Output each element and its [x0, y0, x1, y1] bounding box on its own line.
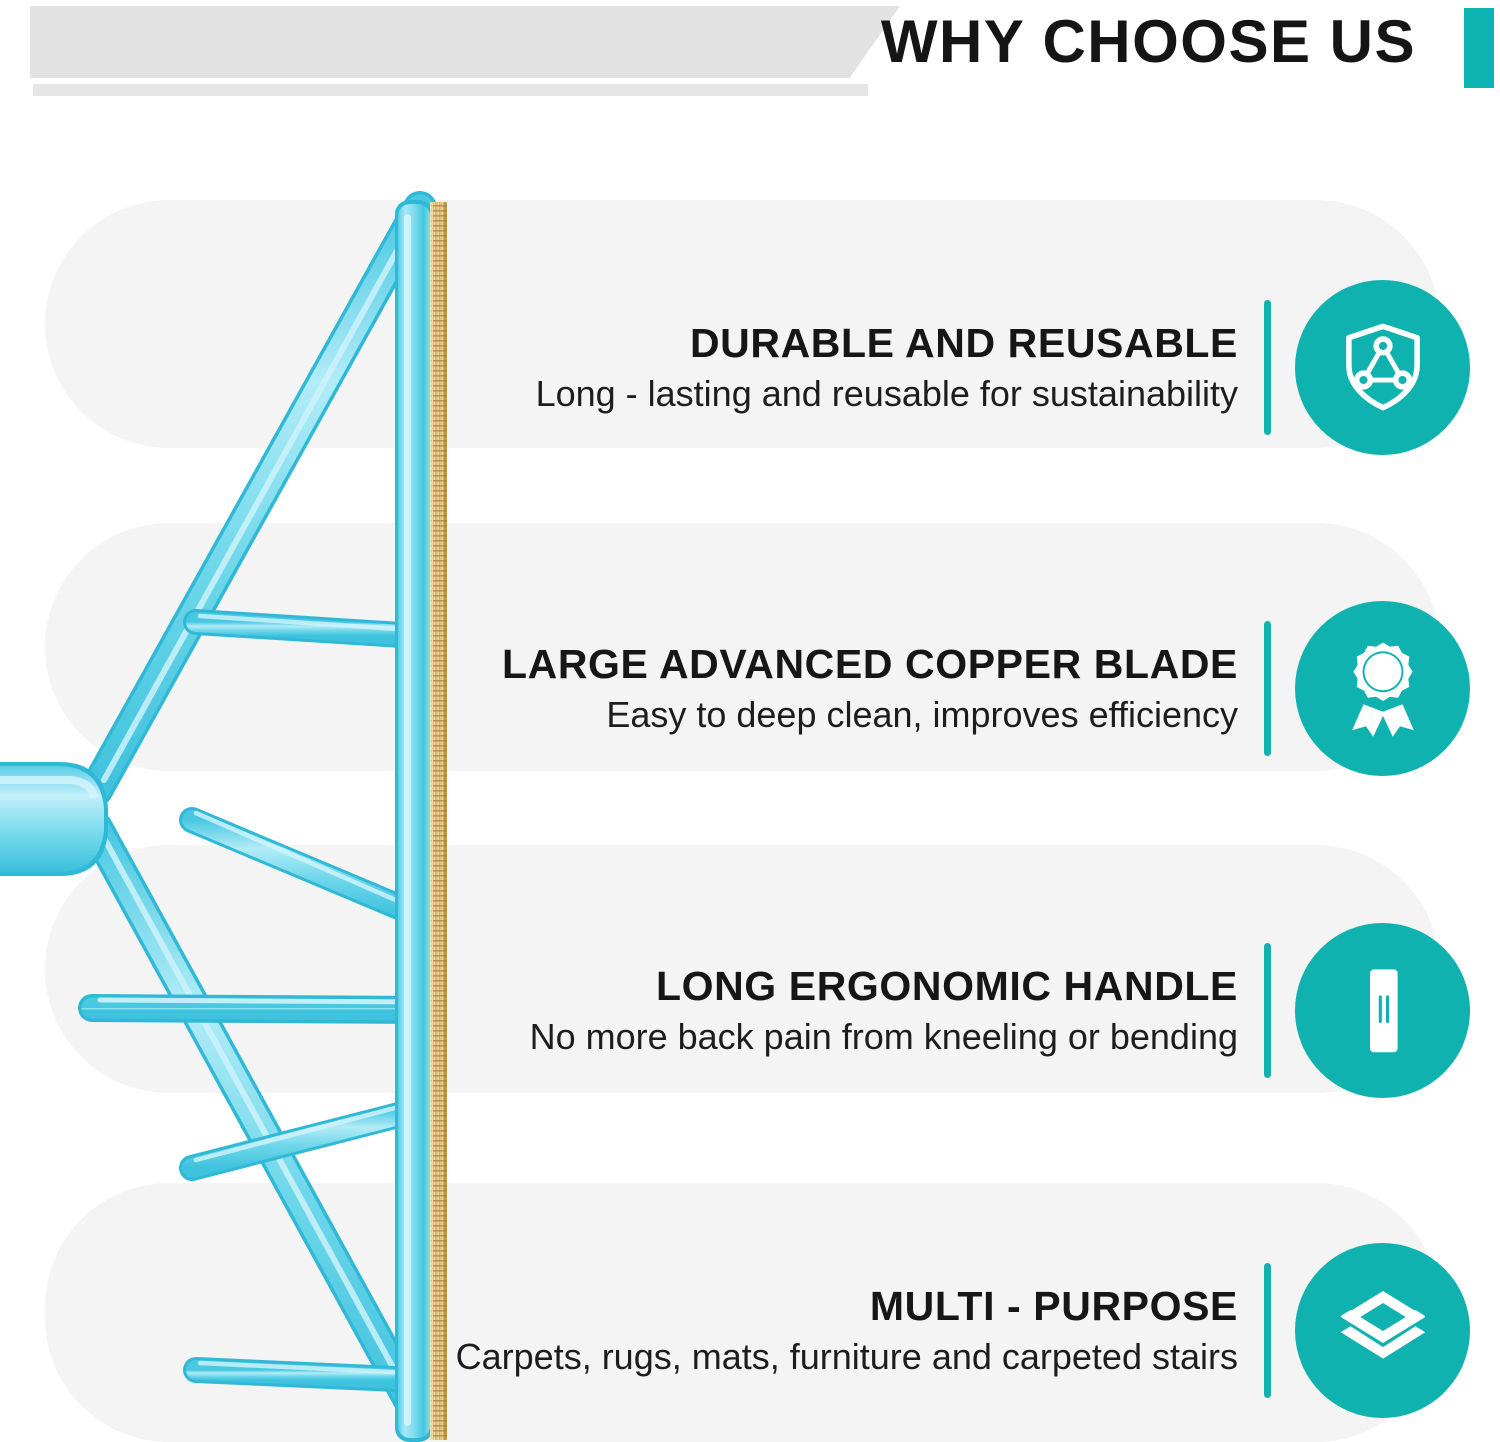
feature-divider-3: [1264, 943, 1271, 1078]
feature-description-1: Long - lasting and reusable for sustaina…: [536, 371, 1238, 417]
feature-divider-4: [1264, 1263, 1271, 1398]
feature-row-4: MULTI - PURPOSE Carpets, rugs, mats, fur…: [430, 1225, 1470, 1435]
header-banner-shape: [30, 6, 900, 78]
feature-title-1: DURABLE AND REUSABLE: [536, 318, 1238, 368]
shield-network-icon: [1295, 280, 1470, 455]
header: WHY CHOOSE US: [0, 0, 1500, 108]
header-underline-strip: [33, 84, 868, 96]
feature-text-3: LONG ERGONOMIC HANDLE No more back pain …: [530, 961, 1264, 1060]
handle-grip-icon: [1295, 923, 1470, 1098]
header-accent-bar: [1464, 8, 1494, 88]
feature-title-4: MULTI - PURPOSE: [456, 1281, 1238, 1331]
feature-text-4: MULTI - PURPOSE Carpets, rugs, mats, fur…: [456, 1281, 1264, 1380]
feature-description-3: No more back pain from kneeling or bendi…: [530, 1014, 1238, 1060]
feature-title-2: LARGE ADVANCED COPPER BLADE: [502, 639, 1238, 689]
feature-divider-1: [1264, 300, 1271, 435]
infographic-stage: WHY CHOOSE US: [0, 0, 1500, 1442]
feature-title-3: LONG ERGONOMIC HANDLE: [530, 961, 1238, 1011]
feature-text-2: LARGE ADVANCED COPPER BLADE Easy to deep…: [502, 639, 1264, 738]
feature-text-1: DURABLE AND REUSABLE Long - lasting and …: [536, 318, 1264, 417]
feature-row-3: LONG ERGONOMIC HANDLE No more back pain …: [430, 905, 1470, 1115]
product-image-carpet-rake: [0, 180, 470, 1442]
feature-description-4: Carpets, rugs, mats, furniture and carpe…: [456, 1334, 1238, 1380]
award-badge-icon: [1295, 601, 1470, 776]
page-title: WHY CHOOSE US: [881, 10, 1416, 74]
feature-description-2: Easy to deep clean, improves efficiency: [502, 692, 1238, 738]
feature-row-2: LARGE ADVANCED COPPER BLADE Easy to deep…: [430, 583, 1470, 793]
feature-divider-2: [1264, 621, 1271, 756]
feature-row-1: DURABLE AND REUSABLE Long - lasting and …: [430, 262, 1470, 472]
layers-stack-icon: [1295, 1243, 1470, 1418]
